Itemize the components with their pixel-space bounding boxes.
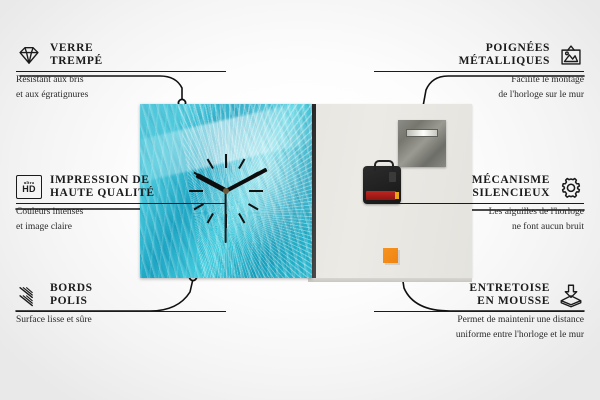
feature-rule bbox=[16, 71, 226, 72]
feature-title-2: MÉTALLIQUES bbox=[459, 55, 550, 68]
feature-desc-2: de l'horloge sur le mur bbox=[374, 90, 584, 102]
feature-entretoise-en-mousse: ENTRETOISE EN MOUSSE Permet de maintenir… bbox=[374, 282, 584, 341]
feature-desc-1: Surface lisse et sûre bbox=[16, 315, 226, 327]
feature-poignees-metalliques: POIGNÉES MÉTALLIQUES Facilite le montage… bbox=[374, 42, 584, 101]
polished-edges-icon bbox=[16, 282, 42, 308]
feature-title-2: EN MOUSSE bbox=[469, 295, 550, 308]
feature-title: MÉCANISME bbox=[472, 174, 550, 187]
feature-desc-2: ne font aucun bruit bbox=[374, 222, 584, 234]
feature-rule bbox=[374, 71, 584, 72]
feature-desc-2: uniforme entre l'horloge et le mur bbox=[374, 330, 584, 342]
feature-rule bbox=[16, 203, 226, 204]
picture-frame-icon bbox=[558, 42, 584, 68]
feature-title-2: TREMPÉ bbox=[50, 55, 103, 68]
feature-desc-2: et aux égratignures bbox=[16, 90, 226, 102]
feature-title-2: SILENCIEUX bbox=[472, 187, 550, 200]
feature-desc-1: Résistant aux bris bbox=[16, 75, 226, 87]
metal-handle-slot bbox=[406, 129, 438, 137]
ultra-hd-icon: ultra HD bbox=[16, 175, 42, 199]
feature-desc-2: et image claire bbox=[16, 222, 226, 234]
metal-handle-plate bbox=[398, 120, 446, 167]
feature-rule bbox=[16, 311, 226, 312]
feature-title: IMPRESSION DE bbox=[50, 174, 155, 187]
feature-title: POIGNÉES bbox=[459, 42, 550, 55]
feature-title-2: POLIS bbox=[50, 295, 93, 308]
infographic-canvas: VERRE TREMPÉ Résistant aux bris et aux é… bbox=[0, 0, 600, 400]
feature-mecanisme-silencieux: MÉCANISME SILENCIEUX Les aiguilles de l'… bbox=[374, 174, 584, 233]
foam-spacer bbox=[383, 248, 398, 263]
feature-desc-1: Facilite le montage bbox=[374, 75, 584, 87]
foam-spacer-icon bbox=[558, 282, 584, 308]
feature-bords-polis: BORDS POLIS Surface lisse et sûre bbox=[16, 282, 226, 327]
mechanism-hanger bbox=[374, 160, 394, 171]
feature-title: ENTRETOISE bbox=[469, 282, 550, 295]
feature-title: VERRE bbox=[50, 42, 103, 55]
feature-rule bbox=[374, 311, 584, 312]
panel-edge bbox=[312, 104, 316, 278]
feature-verre-trempe: VERRE TREMPÉ Résistant aux bris et aux é… bbox=[16, 42, 226, 101]
feature-desc-1: Les aiguilles de l'horloge bbox=[374, 207, 584, 219]
diamond-icon bbox=[16, 42, 42, 68]
feature-desc-1: Couleurs intenses bbox=[16, 207, 226, 219]
feature-desc-1: Permet de maintenir une distance bbox=[374, 315, 584, 327]
feature-title: BORDS bbox=[50, 282, 93, 295]
ultra-hd-icon-big-text: HD bbox=[22, 185, 36, 194]
feature-impression-haute-qualite: ultra HD IMPRESSION DE HAUTE QUALITÉ Cou… bbox=[16, 174, 226, 233]
gear-icon bbox=[558, 174, 584, 200]
feature-title-2: HAUTE QUALITÉ bbox=[50, 187, 155, 200]
feature-rule bbox=[374, 203, 584, 204]
